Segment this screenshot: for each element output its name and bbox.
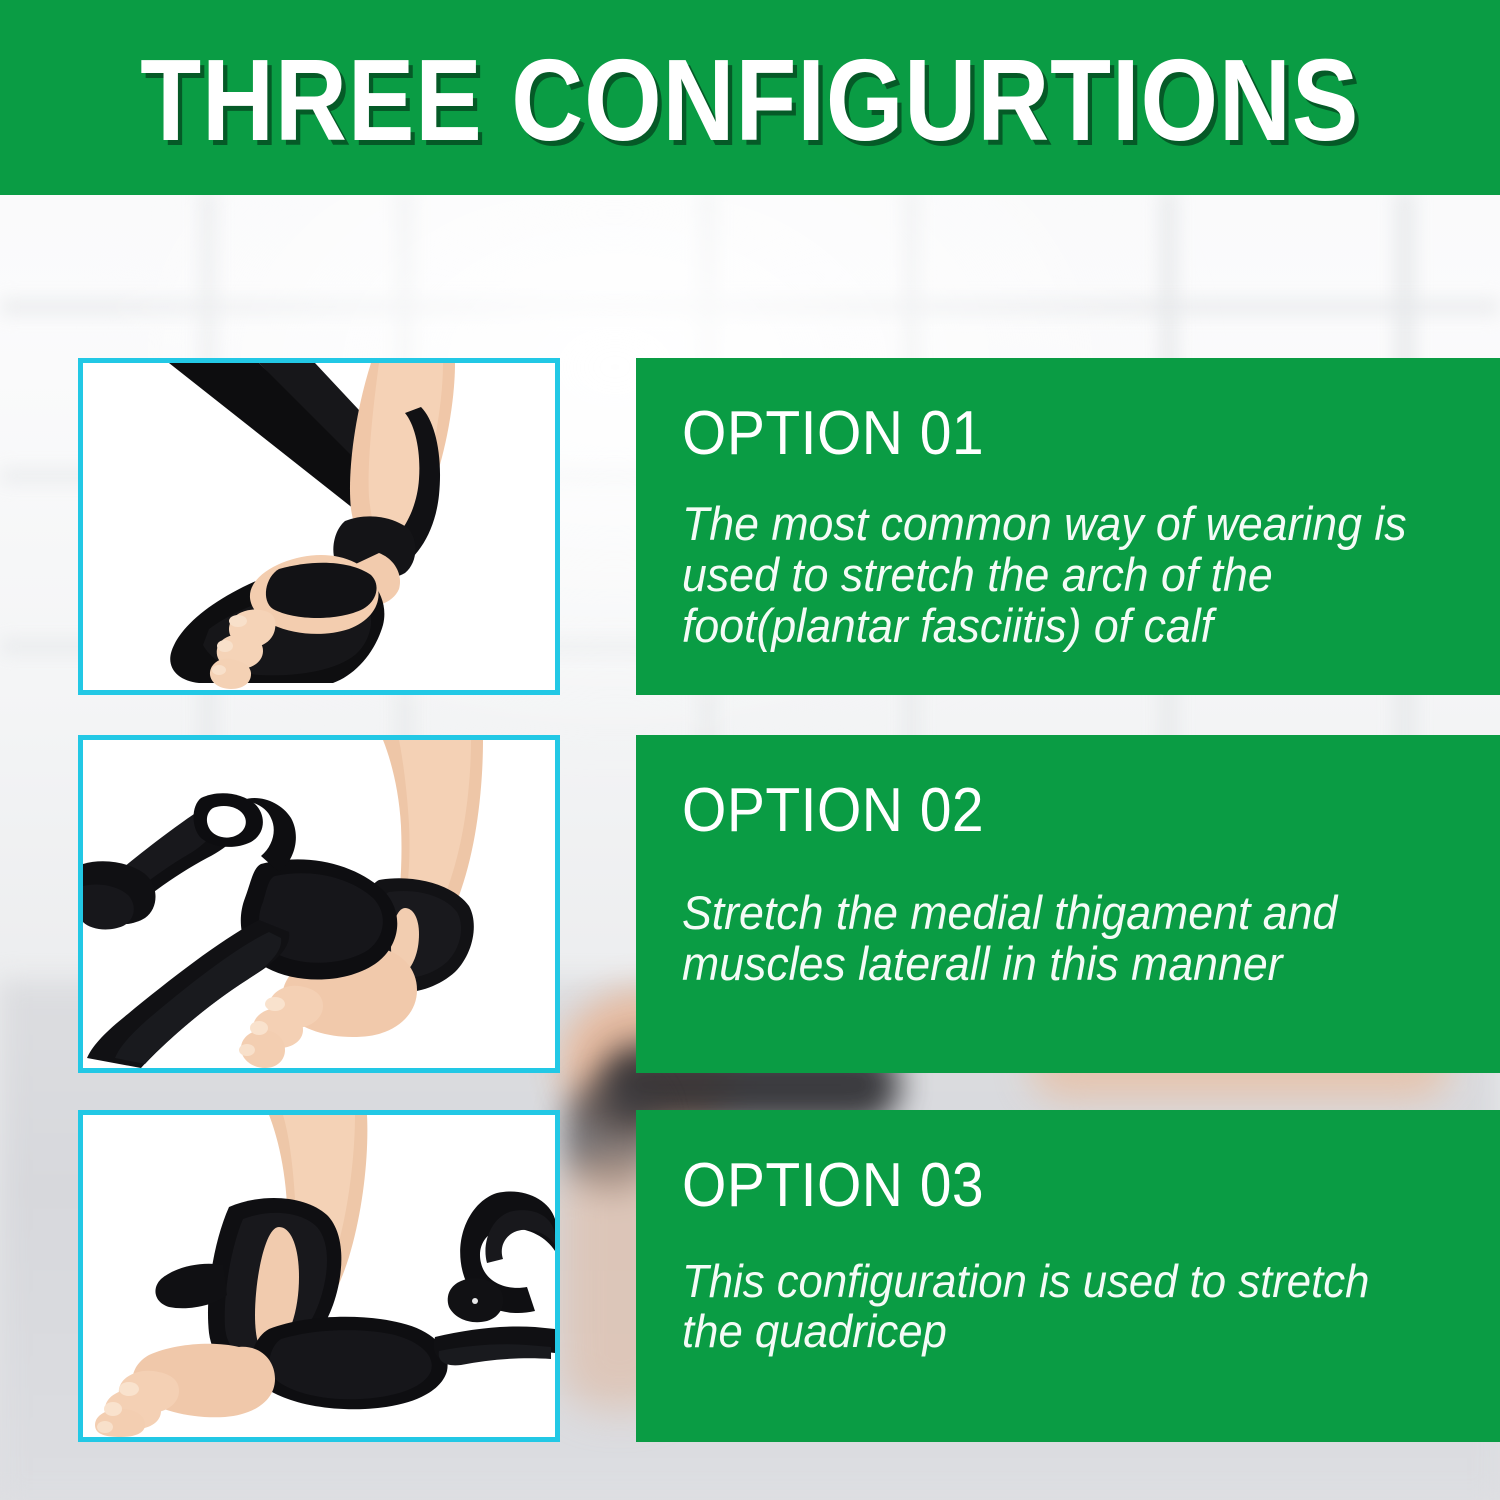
header-banner: THREE CONFIGURTIONS: [0, 0, 1500, 195]
product-photo-frame-1: [78, 358, 560, 695]
ankle-strap-illustration-1: [83, 363, 555, 690]
product-photo-2: [83, 740, 555, 1068]
product-photo-frame-2: [78, 735, 560, 1073]
product-photo-1: [83, 363, 555, 690]
ankle-strap-illustration-3: [83, 1115, 555, 1437]
option-body-3: This configuration is used to stretch th…: [682, 1257, 1421, 1356]
option-heading-3: OPTION 03: [682, 1154, 1398, 1217]
option-heading-1: OPTION 01: [682, 402, 1398, 465]
option-body-1: The most common way of wearing is used t…: [682, 499, 1421, 651]
option-panel-2: OPTION 02 Stretch the medial thigament a…: [636, 735, 1500, 1073]
option-panel-3: OPTION 03 This configuration is used to …: [636, 1110, 1500, 1442]
infographic-page: THREE CONFIGURTIONS: [0, 0, 1500, 1500]
option-panel-1: OPTION 01 The most common way of wearing…: [636, 358, 1500, 695]
product-photo-frame-3: [78, 1110, 560, 1442]
page-title: THREE CONFIGURTIONS: [140, 42, 1359, 158]
option-body-2: Stretch the medial thigament and muscles…: [682, 888, 1421, 990]
option-heading-2: OPTION 02: [682, 779, 1398, 842]
product-photo-3: [83, 1115, 555, 1437]
ankle-strap-illustration-2: [83, 740, 555, 1068]
